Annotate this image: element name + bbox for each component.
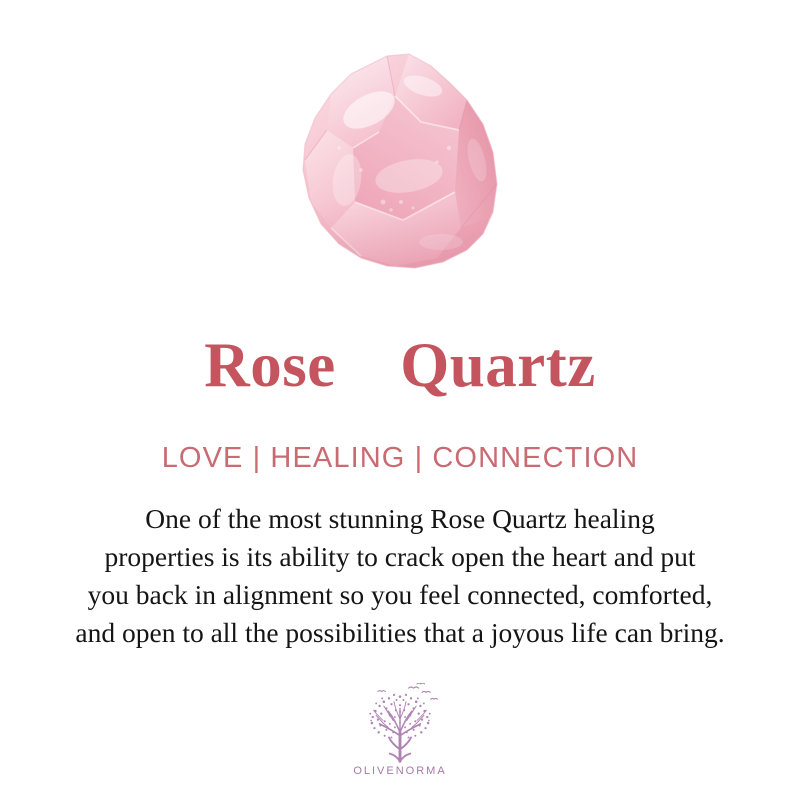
description-line: properties is its ability to crack open …	[0, 538, 800, 576]
rose-quartz-crystal-image	[291, 52, 509, 278]
keyword-subtitle: LOVE | HEALING | CONNECTION	[0, 443, 800, 475]
tree-of-life-icon	[357, 683, 443, 763]
rose-quartz-info-card: Rose Quartz LOVE | HEALING | CONNECTION …	[0, 0, 800, 800]
hero-image-container	[0, 52, 800, 292]
brand-logo: OLIVENORMA	[0, 683, 800, 777]
brand-name-text: OLIVENORMA	[353, 765, 446, 777]
description-text: One of the most stunning Rose Quartz hea…	[0, 500, 800, 652]
page-title: Rose Quartz	[0, 332, 800, 399]
description-line: and open to all the possibilities that a…	[0, 614, 800, 652]
description-line: you back in alignment so you feel connec…	[0, 576, 800, 614]
description-line: One of the most stunning Rose Quartz hea…	[0, 500, 800, 538]
